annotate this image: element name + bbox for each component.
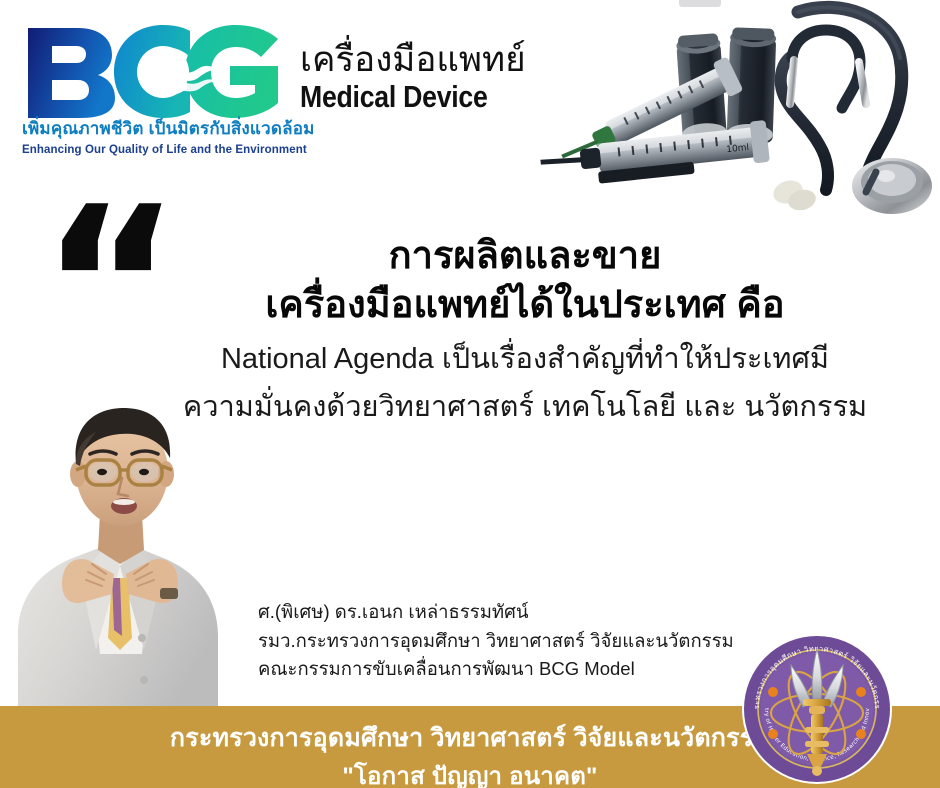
bcg-tagline-english: Enhancing Our Quality of Life and the En…	[22, 144, 294, 156]
quote-line-2: เครื่องมือแพทย์ได้ในประเทศ คือ	[130, 281, 920, 330]
speaker-portrait	[0, 388, 264, 718]
ministry-seal-icon: กระทรวงการอุดมศึกษา วิทยาศาสตร์ วิจัยและ…	[741, 633, 893, 785]
quote-line-1: การผลิตและขาย	[130, 232, 920, 281]
medical-devices-photo: 10ml	[540, 0, 940, 228]
bcg-tagline-thai: เพิ่มคุณภาพชีวิต เป็นมิตรกับสิ่งแวดล้อม	[22, 120, 294, 138]
speaker-name: ศ.(พิเศษ) ดร.เอนก เหล่าธรรมทัศน์	[258, 598, 878, 627]
poster-card: เพิ่มคุณภาพชีวิต เป็นมิตรกับสิ่งแวดล้อม …	[0, 0, 940, 788]
quote-line-3: National Agenda เป็นเรื่องสำคัญที่ทำให้ป…	[130, 339, 920, 380]
bcg-wordmark	[22, 22, 294, 118]
bcg-logo: เพิ่มคุณภาพชีวิต เป็นมิตรกับสิ่งแวดล้อม …	[22, 22, 294, 170]
